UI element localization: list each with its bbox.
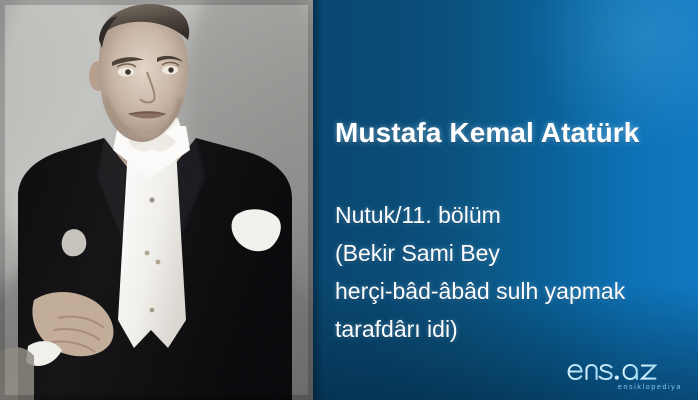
subtitle-line-2: (Bekir Sami Bey bbox=[335, 234, 695, 272]
subtitle-line-4: tarafdârı idi) bbox=[335, 310, 695, 348]
panel-text-block: Mustafa Kemal Atatürk Nutuk/11. bölüm (B… bbox=[335, 0, 685, 400]
article-subtitle: Nutuk/11. bölüm (Bekir Sami Bey herçi-bâ… bbox=[335, 196, 695, 348]
brand-logo-svg: ensiklopediya bbox=[564, 354, 686, 394]
page-title: Mustafa Kemal Atatürk bbox=[335, 116, 639, 150]
subtitle-line-1: Nutuk/11. bölüm bbox=[335, 196, 695, 234]
brand-logo[interactable]: ensiklopediya bbox=[564, 354, 686, 394]
panel-edge-shadow bbox=[313, 0, 323, 400]
subtitle-line-3: herçi-bâd-âbâd sulh yapmak bbox=[335, 272, 695, 310]
info-panel: Mustafa Kemal Atatürk Nutuk/11. bölüm (B… bbox=[313, 0, 698, 400]
portrait-photo-image bbox=[0, 0, 313, 400]
article-preview-card: Mustafa Kemal Atatürk Nutuk/11. bölüm (B… bbox=[0, 0, 698, 400]
brand-tagline: ensiklopediya bbox=[618, 382, 682, 391]
portrait-photo bbox=[0, 0, 313, 400]
